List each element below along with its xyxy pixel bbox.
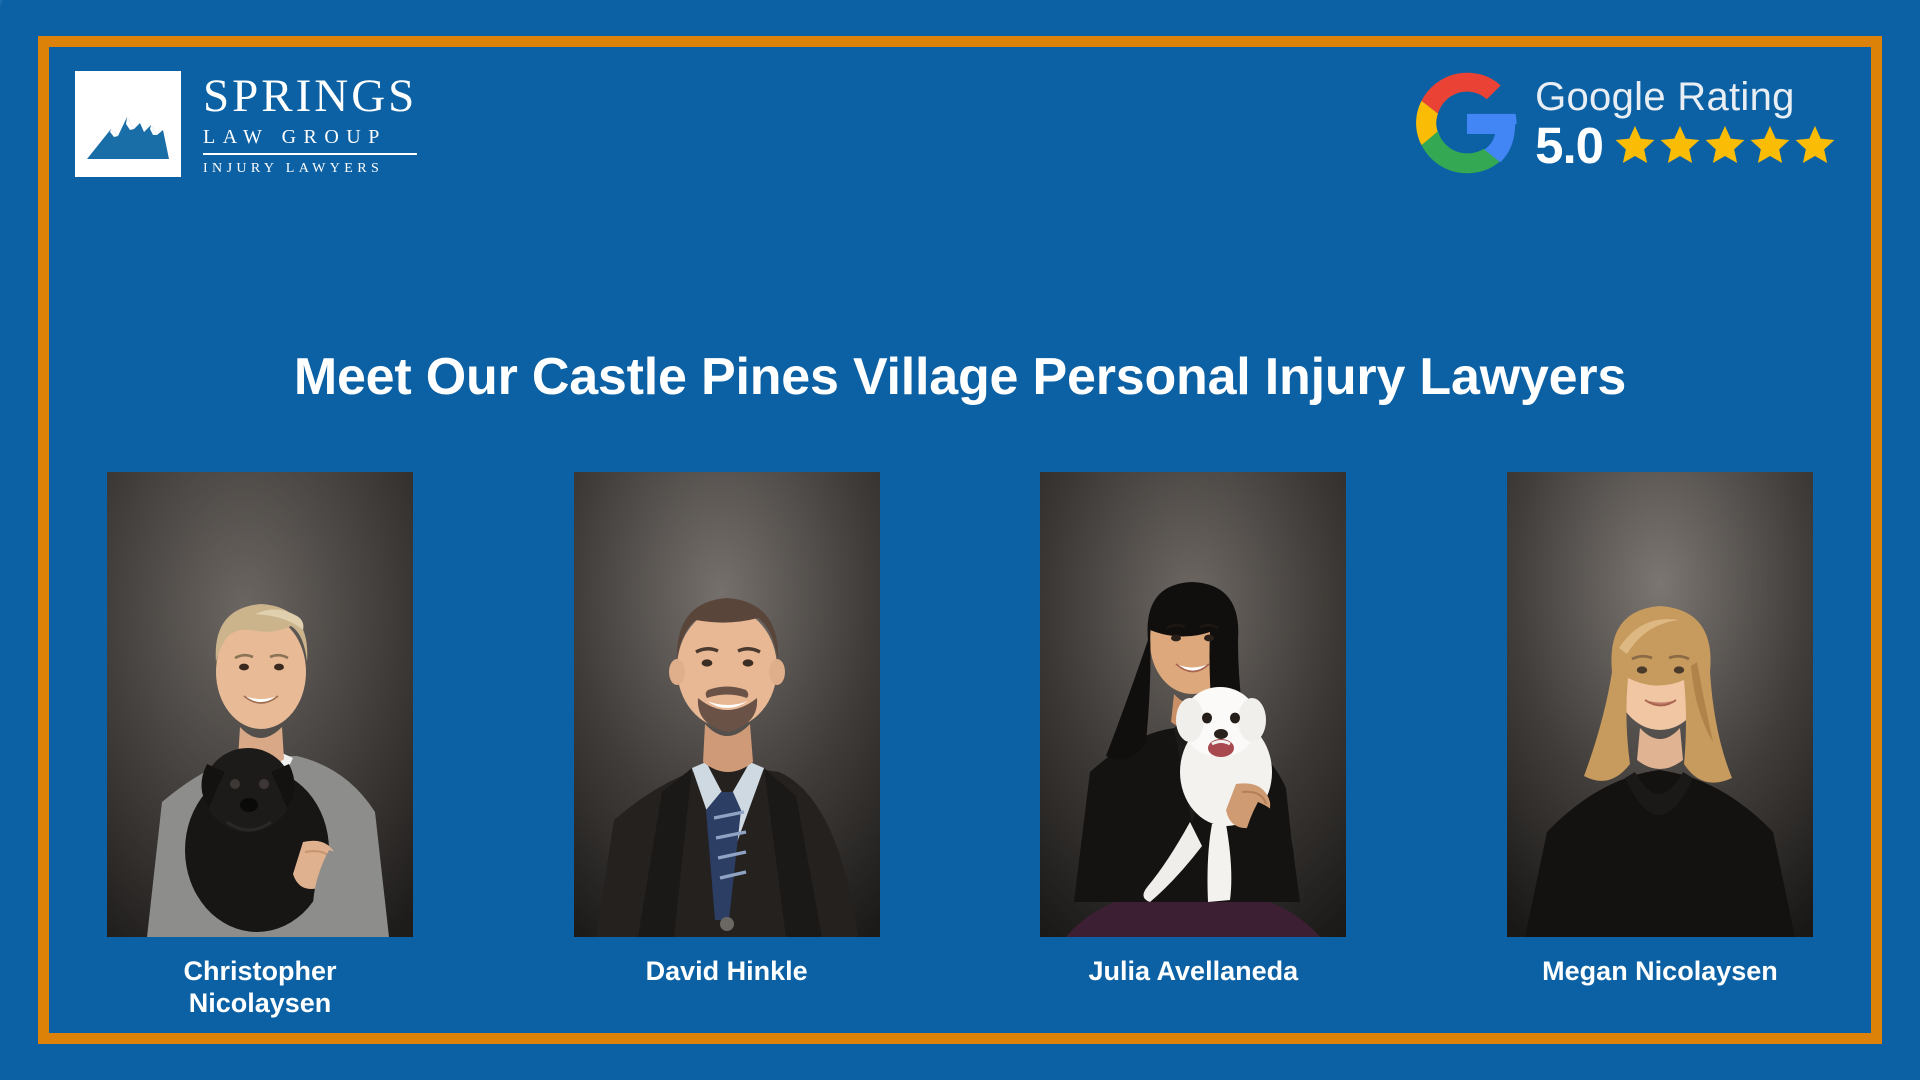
portrait-julia-avellaneda	[1040, 472, 1346, 937]
attorney-name: Megan Nicolaysen	[1542, 955, 1778, 987]
star-icon	[1703, 123, 1747, 167]
brand-name-line3: INJURY LAWYERS	[203, 162, 417, 176]
portrait-david-hinkle	[574, 472, 880, 937]
attorney-card[interactable]: Julia Avellaneda	[1040, 472, 1346, 1020]
mountain-icon	[75, 71, 181, 177]
portrait-megan-nicolaysen	[1507, 472, 1813, 937]
brand-wordmark: SPRINGS LAW GROUP INJURY LAWYERS	[203, 71, 417, 177]
attorney-name: David Hinkle	[646, 955, 808, 987]
google-rating-stars	[1613, 123, 1837, 167]
google-rating-text: Google Rating 5.0	[1535, 76, 1837, 171]
attorney-card[interactable]: Christopher Nicolaysen	[107, 472, 413, 1020]
brand-name-line1: SPRINGS	[203, 73, 417, 120]
attorney-card[interactable]: David Hinkle	[574, 472, 880, 1020]
brand-logo[interactable]: SPRINGS LAW GROUP INJURY LAWYERS	[75, 71, 417, 177]
portrait-christopher-nicolaysen	[107, 472, 413, 937]
google-rating-score-row: 5.0	[1535, 120, 1837, 171]
page-title: Meet Our Castle Pines Village Personal I…	[49, 347, 1871, 407]
brand-name-line2: LAW GROUP	[203, 127, 417, 155]
star-icon	[1613, 123, 1657, 167]
star-icon	[1658, 123, 1702, 167]
google-rating-title: Google Rating	[1535, 76, 1837, 118]
star-icon	[1793, 123, 1837, 167]
attorney-name: Christopher Nicolaysen	[183, 955, 336, 1020]
orange-frame-border: SPRINGS LAW GROUP INJURY LAWYERS Googl	[38, 36, 1882, 1044]
google-rating-badge[interactable]: Google Rating 5.0	[1415, 71, 1837, 175]
banner-header: SPRINGS LAW GROUP INJURY LAWYERS Googl	[49, 47, 1871, 217]
google-g-icon	[1415, 71, 1519, 175]
attorney-list: Christopher Nicolaysen	[107, 472, 1813, 1020]
attorney-name: Julia Avellaneda	[1089, 955, 1299, 987]
promo-banner: SPRINGS LAW GROUP INJURY LAWYERS Googl	[0, 0, 1920, 1080]
star-icon	[1748, 123, 1792, 167]
google-rating-score: 5.0	[1535, 120, 1603, 171]
attorney-card[interactable]: Megan Nicolaysen	[1507, 472, 1813, 1020]
